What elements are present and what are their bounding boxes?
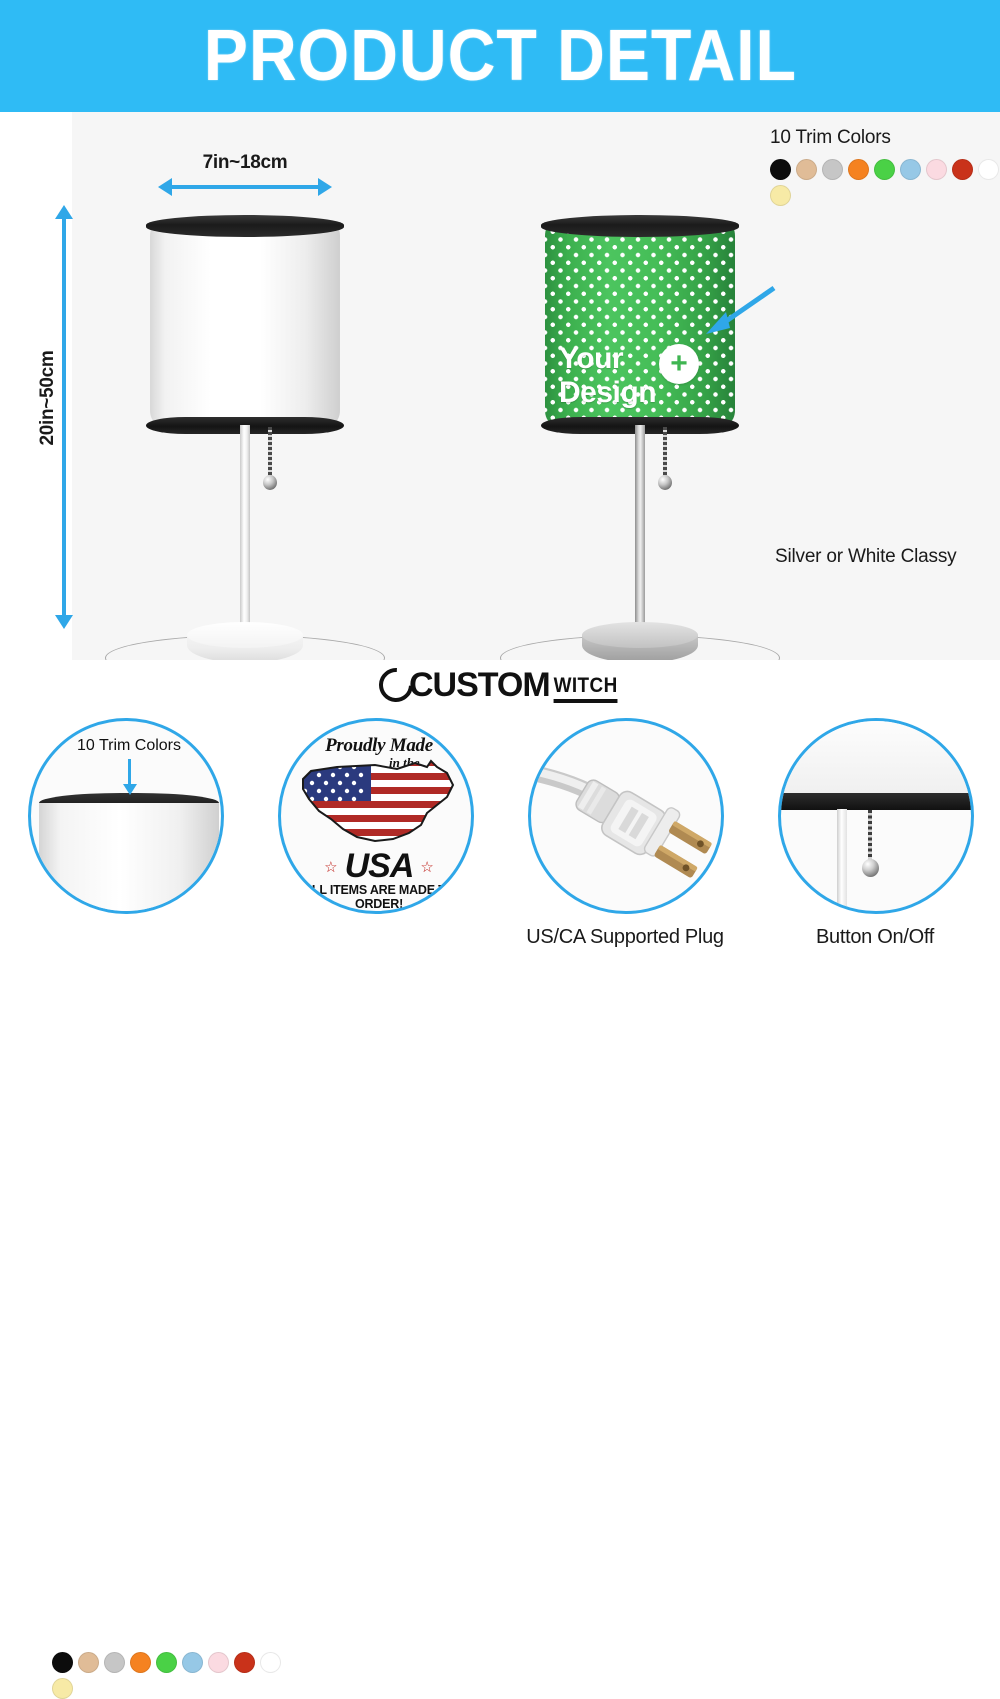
- feature-inner-label: 10 Trim Colors: [31, 737, 224, 755]
- pointer-arrow-shaft: [128, 759, 131, 787]
- pull-chain[interactable]: [658, 427, 672, 497]
- trim-swatch-pink[interactable]: [208, 1652, 229, 1673]
- logo-primary-text: CUSTOM: [409, 666, 550, 705]
- base-top: [582, 622, 698, 648]
- height-arrow-line: [62, 217, 66, 617]
- shade-body: [39, 803, 219, 914]
- arrow-icon: [700, 284, 780, 334]
- feature-made-in-usa: Proudly Made in the: [250, 710, 500, 1000]
- trim-swatch-white[interactable]: [978, 159, 999, 180]
- plus-icon: +: [659, 344, 699, 384]
- logo-secondary-text: WITCH: [553, 674, 617, 703]
- trim-swatch-black[interactable]: [770, 159, 791, 180]
- feature-trim-colors: 10 Trim Colors: [0, 710, 250, 1000]
- pointer-arrow-head: [123, 784, 137, 795]
- width-arrow-head-left: [158, 178, 172, 196]
- chain-beads: [663, 427, 667, 479]
- power-plug-icon: [531, 721, 724, 914]
- shade-body: [778, 721, 974, 799]
- trim-colors-title: 10 Trim Colors: [770, 127, 1000, 149]
- usa-badge-subtext: ALL ITEMS ARE MADE TO ORDER!: [281, 883, 474, 911]
- usa-badge-word: USA: [345, 847, 414, 886]
- shade-trim-top: [541, 215, 739, 237]
- chain-ball[interactable]: [862, 859, 879, 877]
- height-arrow-head-bottom: [55, 615, 73, 629]
- lamp-pole: [837, 809, 847, 914]
- trim-swatch-green[interactable]: [874, 159, 895, 180]
- product-stage: 7in~18cm 20in~50cm: [0, 112, 1000, 660]
- width-arrow-line: [170, 185, 320, 189]
- lamp-shade-white: [150, 215, 340, 430]
- trim-swatch-red[interactable]: [952, 159, 973, 180]
- trim-swatch-yellow[interactable]: [52, 1678, 73, 1699]
- feature-power-plug: US/CA Supported Plug: [500, 710, 750, 1000]
- trim-callout-arrow: [700, 284, 780, 334]
- bottom-trim-swatch-grid[interactable]: [52, 1642, 282, 1699]
- trim-swatch-light-blue[interactable]: [182, 1652, 203, 1673]
- trim-swatch-yellow[interactable]: [770, 185, 791, 206]
- height-arrow-head-top: [55, 205, 73, 219]
- trim-swatch-orange[interactable]: [848, 159, 869, 180]
- lamp-pole: [240, 425, 250, 637]
- trim-swatch-pink[interactable]: [926, 159, 947, 180]
- feature-caption: US/CA Supported Plug: [500, 926, 750, 949]
- trim-swatch-tan[interactable]: [78, 1652, 99, 1673]
- chain-beads: [268, 427, 272, 479]
- usa-map-flag-icon: [297, 753, 461, 849]
- trim-swatch-orange[interactable]: [130, 1652, 151, 1673]
- chain-beads[interactable]: [868, 810, 872, 862]
- feature-caption: Button On/Off: [750, 926, 1000, 949]
- page-title: PRODUCT DETAIL: [203, 15, 796, 97]
- base-finish-callout-label: Silver or White Classy: [775, 546, 956, 568]
- width-arrow-head-right: [318, 178, 332, 196]
- trim-swatch-tan[interactable]: [796, 159, 817, 180]
- trim-swatch-gray[interactable]: [104, 1652, 125, 1673]
- width-dimension-label: 7in~18cm: [160, 152, 330, 174]
- trim-swatch-red[interactable]: [234, 1652, 255, 1673]
- lamp-white-blank: [95, 197, 395, 667]
- feature-circle: Proudly Made in the: [278, 718, 474, 914]
- chain-ball: [658, 475, 672, 490]
- star-icon-right: ☆: [420, 858, 433, 876]
- height-dimension-label: 20in~50cm: [37, 288, 59, 508]
- width-dimension: 7in~18cm: [160, 152, 330, 200]
- lamp-pole: [635, 425, 645, 637]
- header-banner: PRODUCT DETAIL: [0, 0, 1000, 112]
- shade-body: [150, 224, 340, 422]
- pull-chain[interactable]: [263, 427, 277, 497]
- height-dimension: 20in~50cm: [28, 207, 74, 627]
- design-line-2: Design: [559, 376, 729, 410]
- design-line-1: Your: [559, 342, 729, 376]
- trim-swatch-black[interactable]: [52, 1652, 73, 1673]
- lamp-green-custom: Your Design +: [490, 197, 790, 667]
- base-top: [187, 622, 303, 648]
- trim-color-swatch-grid[interactable]: [770, 159, 1000, 206]
- swatch-grid[interactable]: [52, 1652, 287, 1699]
- feature-circle: [528, 718, 724, 914]
- star-icon-left: ☆: [324, 858, 337, 876]
- shade-trim-top: [146, 215, 344, 237]
- custom-design-text: Your Design +: [559, 342, 729, 410]
- feature-circle: 10 Trim Colors: [28, 718, 224, 914]
- shade-trim-bottom: [778, 793, 974, 810]
- chain-ball: [263, 475, 277, 490]
- trim-swatch-white[interactable]: [260, 1652, 281, 1673]
- trim-colors-callout: 10 Trim Colors: [770, 127, 1000, 206]
- trim-swatch-light-blue[interactable]: [900, 159, 921, 180]
- feature-strip: 10 Trim Colors Proudly Made in the: [0, 710, 1000, 1000]
- trim-swatch-gray[interactable]: [822, 159, 843, 180]
- brand-logo: CUSTOM WITCH: [0, 660, 1000, 710]
- feature-circle: [778, 718, 974, 914]
- trim-swatch-green[interactable]: [156, 1652, 177, 1673]
- feature-pull-switch: Button On/Off: [750, 710, 1000, 1000]
- usa-word-row: ☆ USA ☆: [281, 847, 474, 886]
